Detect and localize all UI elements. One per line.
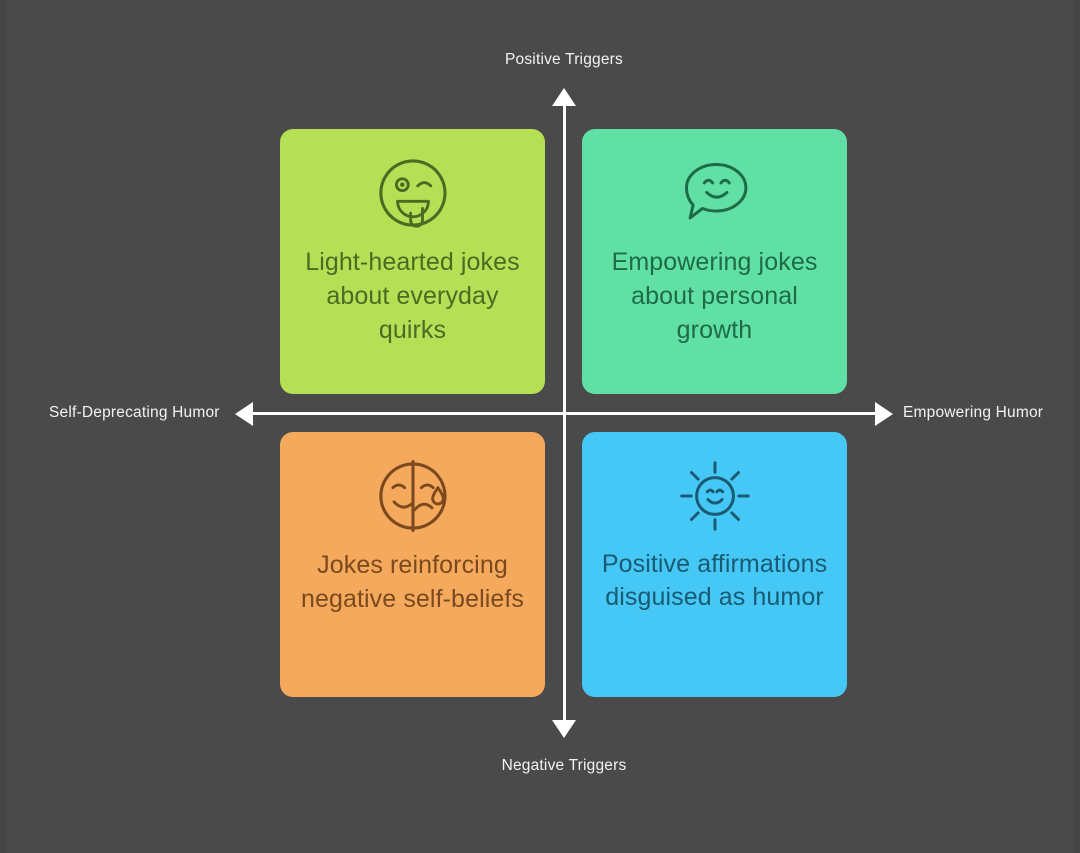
arrow-left-icon: [235, 402, 253, 426]
horizontal-axis-line: [243, 412, 887, 415]
axis-label-empowering-humor: Empowering Humor: [903, 404, 1043, 422]
half-happy-half-sad-face-icon: [375, 458, 451, 534]
smiling-sun-icon: [677, 458, 753, 534]
axis-label-self-deprecating-humor: Self-Deprecating Humor: [49, 404, 220, 422]
quadrant-card-bottom-right[interactable]: Positive affirmations disguised as humor: [582, 432, 847, 697]
quadrant-matrix-diagram: Positive Triggers Negative Triggers Self…: [0, 0, 1080, 853]
quadrant-text-bottom-right: Positive affirmations disguised as humor: [598, 548, 831, 615]
arrow-down-icon: [552, 720, 576, 738]
arrow-up-icon: [552, 88, 576, 106]
quadrant-card-top-right[interactable]: Empowering jokes about personal growth: [582, 129, 847, 394]
quadrant-text-top-right: Empowering jokes about personal growth: [598, 245, 831, 347]
smiling-speech-bubble-icon: [677, 155, 753, 231]
arrow-right-icon: [875, 402, 893, 426]
winking-tongue-face-icon: [375, 155, 451, 231]
quadrant-text-bottom-left: Jokes reinforcing negative self-beliefs: [296, 548, 529, 616]
axis-label-positive-triggers: Positive Triggers: [7, 51, 1080, 69]
axis-label-negative-triggers: Negative Triggers: [7, 757, 1080, 775]
quadrant-card-top-left[interactable]: Light-hearted jokes about everyday quirk…: [280, 129, 545, 394]
quadrant-card-bottom-left[interactable]: Jokes reinforcing negative self-beliefs: [280, 432, 545, 697]
quadrant-text-top-left: Light-hearted jokes about everyday quirk…: [296, 245, 529, 347]
